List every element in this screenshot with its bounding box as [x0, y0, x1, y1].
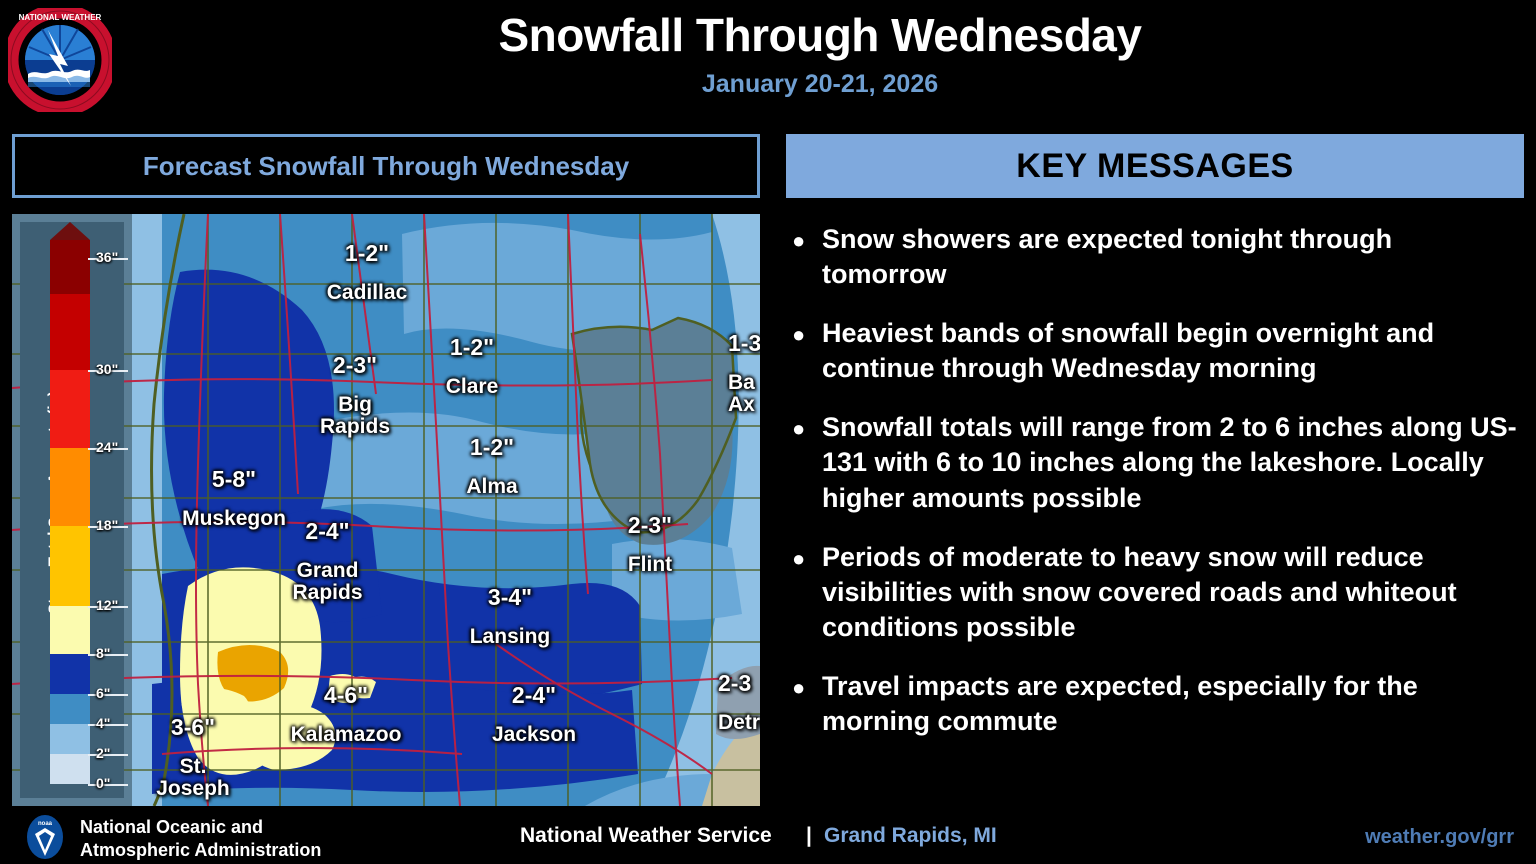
- map-label-name: Lansing: [440, 626, 580, 648]
- map-label-kalamazoo: 4-6" Kalamazoo: [266, 666, 426, 763]
- map-label-amount: 4-6": [266, 683, 426, 707]
- map-label-name: Detro: [718, 712, 760, 734]
- colorbar-gradient: [50, 236, 90, 784]
- map-label-name: St. Joseph: [128, 756, 258, 800]
- map-label-cadillac: 1-2" Cadillac: [302, 224, 432, 321]
- key-messages-list: ● Snow showers are expected tonight thro…: [786, 222, 1524, 763]
- map-label-name: Kalamazoo: [266, 724, 426, 746]
- key-message-text: Travel impacts are expected, especially …: [822, 669, 1524, 739]
- key-message-text: Heaviest bands of snowfall begin overnig…: [822, 316, 1524, 386]
- map-label-big-rapids: 2-3" Big Rapids: [290, 336, 420, 455]
- map-label-amount: 3-4": [440, 585, 580, 609]
- colorbar-segment-0-2: [50, 754, 90, 784]
- map-label-detroit: 2-3 Detro: [718, 654, 760, 751]
- key-messages-panel: KEY MESSAGES ● Snow showers are expected…: [786, 134, 1524, 806]
- colorbar-tick-label-2: 2": [96, 745, 110, 761]
- key-message-text: Snowfall totals will range from 2 to 6 i…: [822, 410, 1524, 515]
- map-label-name: Clare: [412, 376, 532, 398]
- list-item: ● Periods of moderate to heavy snow will…: [786, 540, 1524, 645]
- colorbar-tick-label-6: 6": [96, 685, 110, 701]
- colorbar-segment-36-plus: [50, 240, 90, 294]
- bullet-marker-icon: ●: [786, 410, 822, 515]
- colorbar-tick-label-4: 4": [96, 715, 110, 731]
- page-footer: noaa National Oceanic and Atmospheric Ad…: [0, 806, 1536, 864]
- map-label-st-joseph: 3-6" St. Joseph: [128, 698, 258, 806]
- map-label-name: Grand Rapids: [260, 560, 395, 604]
- nws-seal-icon: NATIONAL WEATHER: [8, 8, 112, 112]
- map-label-name: Big Rapids: [290, 394, 420, 438]
- key-messages-header: KEY MESSAGES: [786, 134, 1524, 198]
- key-messages-header-text: KEY MESSAGES: [1016, 147, 1293, 186]
- svg-text:noaa: noaa: [38, 821, 53, 827]
- bullet-marker-icon: ●: [786, 669, 822, 739]
- colorbar-segment-12-18: [50, 526, 90, 606]
- map-label-name: Cadillac: [302, 282, 432, 304]
- map-label-flint: 2-3" Flint: [590, 496, 710, 593]
- map-label-clare: 1-2" Clare: [412, 318, 532, 415]
- footer-separator: |: [806, 824, 812, 848]
- noaa-seagull-icon: noaa: [22, 814, 68, 860]
- map-label-jackson: 2-4" Jackson: [464, 666, 604, 763]
- nws-office-name: Grand Rapids, MI: [824, 824, 997, 848]
- map-label-amount: 1-3: [728, 331, 760, 355]
- colorbar-tick-label-0: 0": [96, 775, 110, 791]
- map-label-amount: 3-6": [128, 715, 258, 739]
- bullet-marker-icon: ●: [786, 222, 822, 292]
- colorbar-tick-label-8: 8": [96, 645, 110, 661]
- map-label-amount: 2-4": [464, 683, 604, 707]
- map-label-alma: 1-2" Alma: [432, 418, 552, 515]
- map-panel-header-text: Forecast Snowfall Through Wednesday: [143, 151, 629, 182]
- bullet-marker-icon: ●: [786, 540, 822, 645]
- colorbar-segment-18-24: [50, 448, 90, 526]
- colorbar-segment-24-30: [50, 370, 90, 448]
- noaa-agency-name: National Oceanic and Atmospheric Adminis…: [80, 816, 321, 861]
- colorbar-tick-label-24: 24": [96, 439, 118, 455]
- colorbar-segment-30-36: [50, 294, 90, 370]
- forecast-map-panel: Forecast Snowfall Through Wednesday: [12, 134, 760, 806]
- colorbar-tick-label-36: 36": [96, 249, 118, 265]
- list-item: ● Travel impacts are expected, especiall…: [786, 669, 1524, 739]
- map-label-amount: 2-3": [290, 353, 420, 377]
- map-label-amount: 1-2": [302, 241, 432, 265]
- map-label-name: Ba Ax: [728, 372, 760, 416]
- key-message-text: Periods of moderate to heavy snow will r…: [822, 540, 1524, 645]
- page-title: Snowfall Through Wednesday: [120, 8, 1520, 62]
- map-label-name: Flint: [590, 554, 710, 576]
- colorbar-tick-label-30: 30": [96, 361, 118, 377]
- map-label-grand-rapids: 2-4" Grand Rapids: [260, 502, 395, 621]
- map-label-amount: 1-2": [432, 435, 552, 459]
- map-label-amount: 2-3: [718, 671, 760, 695]
- map-label-bad-axe: 1-3 Ba Ax: [728, 314, 760, 433]
- colorbar-tick-label-12: 12": [96, 597, 118, 613]
- map-label-amount: 5-8": [164, 467, 304, 491]
- list-item: ● Snowfall totals will range from 2 to 6…: [786, 410, 1524, 515]
- nws-service-name: National Weather Service: [520, 824, 772, 848]
- colorbar-tick-label-18: 18": [96, 517, 118, 533]
- snowfall-colorbar: Storm Total Snow Amounts (in) 0" 2" 4": [20, 222, 124, 798]
- map-label-amount: 2-3": [590, 513, 710, 537]
- snowfall-map[interactable]: Storm Total Snow Amounts (in) 0" 2" 4": [12, 214, 760, 806]
- list-item: ● Snow showers are expected tonight thro…: [786, 222, 1524, 292]
- colorbar-segment-8-12: [50, 606, 90, 654]
- list-item: ● Heaviest bands of snowfall begin overn…: [786, 316, 1524, 386]
- bullet-marker-icon: ●: [786, 316, 822, 386]
- map-label-lansing: 3-4" Lansing: [440, 568, 580, 665]
- map-label-amount: 1-2": [412, 335, 532, 359]
- colorbar-segment-4-6: [50, 694, 90, 724]
- page-header: NATIONAL WEATHER Snowfall Through Wednes…: [0, 0, 1536, 120]
- map-label-amount: 2-4": [260, 519, 395, 543]
- key-message-text: Snow showers are expected tonight throug…: [822, 222, 1524, 292]
- map-label-name: Alma: [432, 476, 552, 498]
- map-label-name: Jackson: [464, 724, 604, 746]
- page-subtitle: January 20-21, 2026: [120, 70, 1520, 99]
- colorbar-segment-6-8: [50, 654, 90, 694]
- map-panel-header: Forecast Snowfall Through Wednesday: [12, 134, 760, 198]
- colorbar-segment-2-4: [50, 724, 90, 754]
- svg-text:NATIONAL WEATHER: NATIONAL WEATHER: [19, 13, 102, 22]
- weather-gov-url: weather.gov/grr: [1365, 826, 1514, 849]
